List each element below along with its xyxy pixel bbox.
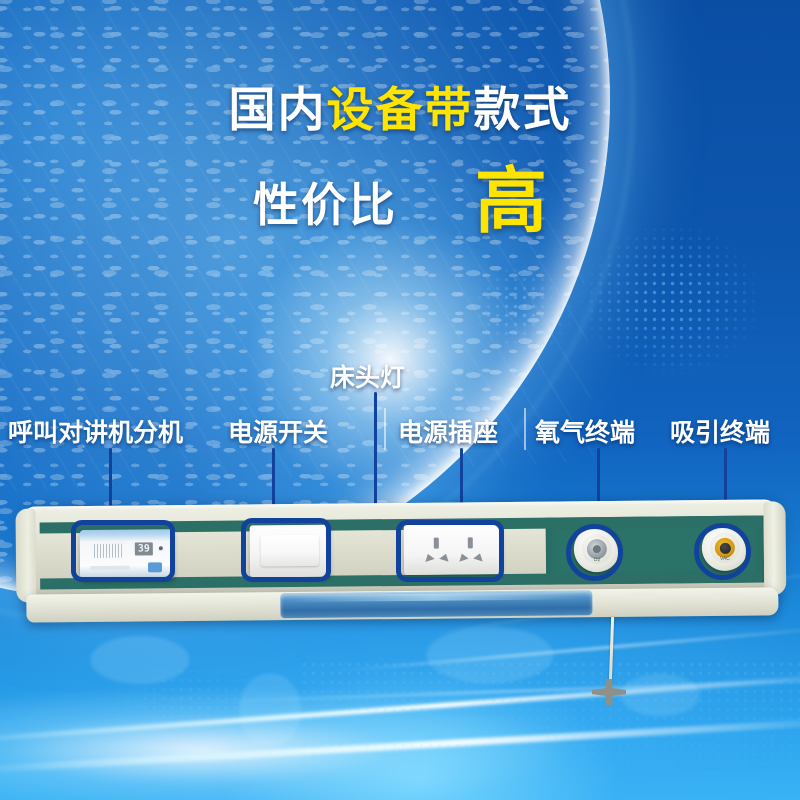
highlight-box-power-socket — [396, 520, 504, 582]
label-divider — [384, 408, 386, 450]
headline-part-1: 国内 — [229, 83, 327, 136]
callout-label-bedside-lamp: 床头灯 — [330, 358, 405, 394]
panel-end-cap-right — [763, 501, 786, 595]
headline-part-3: 款式 — [474, 83, 572, 136]
callout-label-oxygen: 氧气终端 — [535, 413, 635, 449]
promo-image-canvas: 国内设备带款式 性价比高 呼叫对讲机分机 电源开关 床头灯 电源插座 氧气终端 … — [0, 0, 800, 800]
headline-primary: 国内设备带款式 — [0, 86, 800, 133]
highlight-circle-oxygen — [566, 524, 623, 581]
panel-end-cap-left — [15, 509, 36, 603]
label-divider — [524, 408, 526, 450]
subheadline-text: 性价比 — [253, 169, 397, 235]
halftone-dots-decor — [300, 660, 800, 800]
highlight-box-power-switch — [241, 518, 331, 582]
callout-label-power-switch: 电源开关 — [228, 413, 328, 449]
callout-label-intercom: 呼叫对讲机分机 — [8, 413, 183, 449]
callout-label-power-socket: 电源插座 — [398, 413, 498, 449]
subheadline-emphasis: 高 — [475, 168, 547, 236]
callout-label-suction: 吸引终端 — [670, 413, 770, 449]
halftone-dots-decor — [430, 230, 620, 390]
highlight-circle-suction — [694, 523, 751, 580]
highlight-box-intercom — [71, 520, 175, 582]
headline-part-2: 设备带 — [327, 83, 474, 136]
headline-secondary: 性价比高 — [0, 168, 800, 236]
